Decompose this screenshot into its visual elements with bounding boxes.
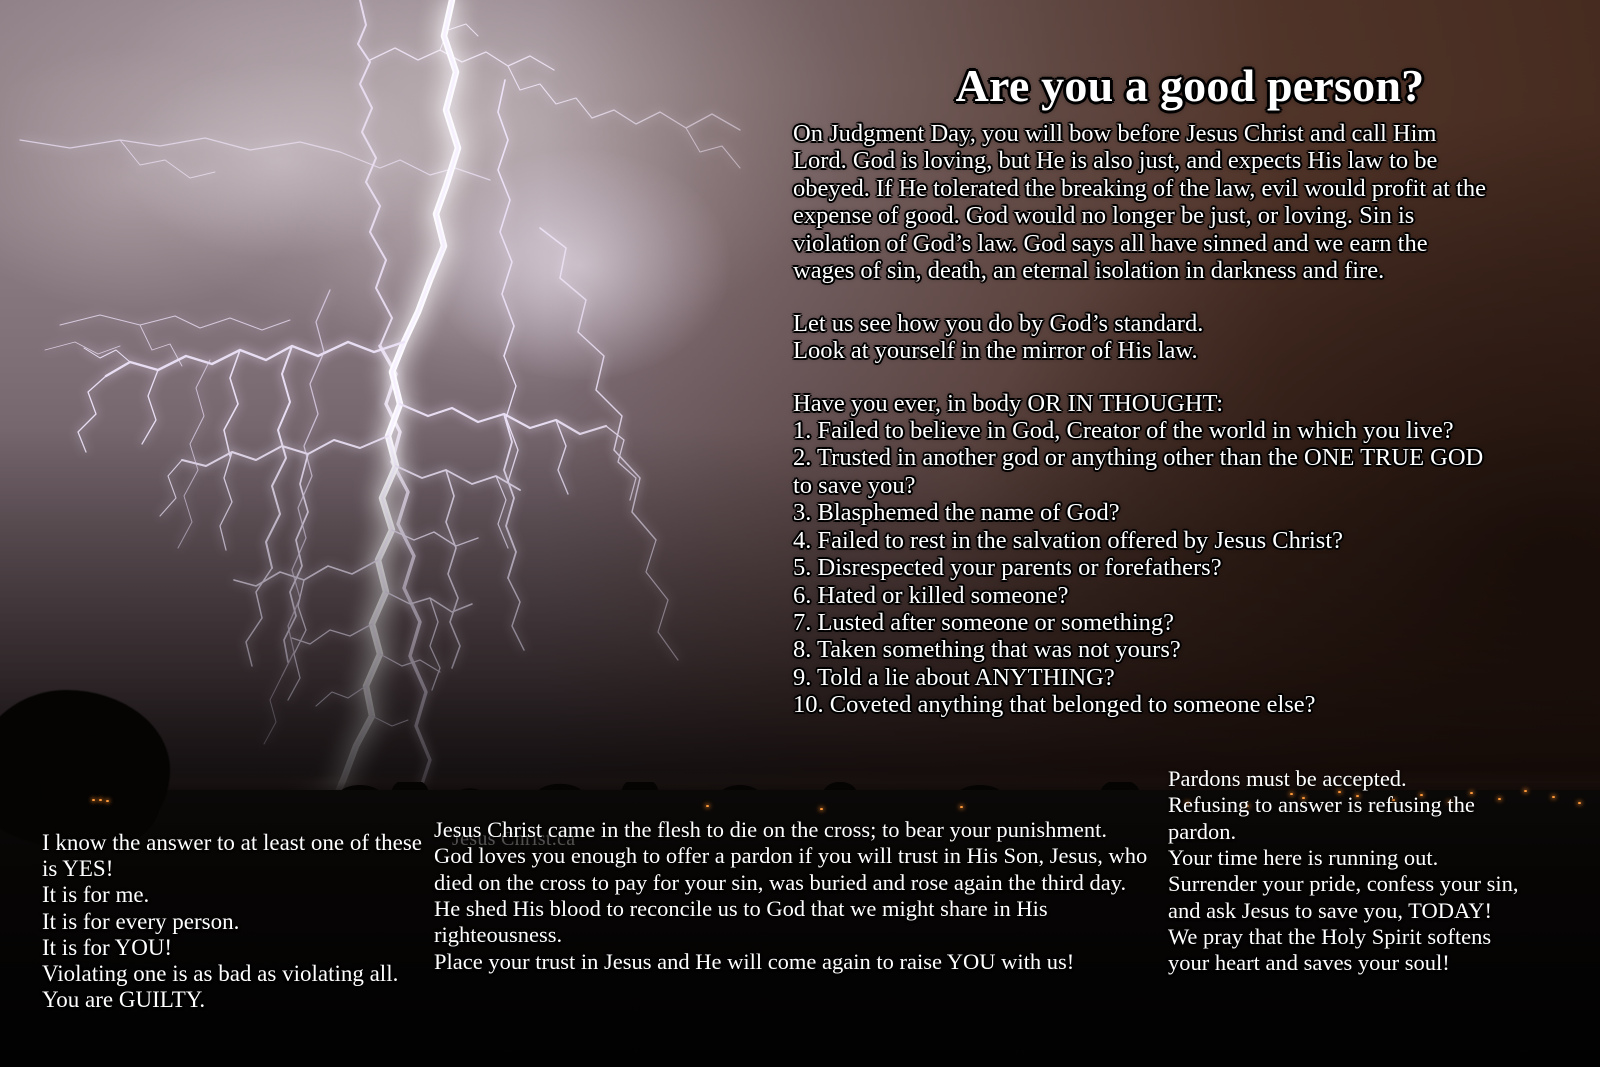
guilt-line: It is for YOU! — [42, 935, 432, 961]
gospel-line: God loves you enough to offer a pardon i… — [434, 843, 1152, 948]
gospel-line: Place your trust in Jesus and He will co… — [434, 949, 1152, 975]
question-item: 9. Told a lie about ANYTHING? — [793, 664, 1493, 691]
gospel-line: Jesus Christ came in the flesh to die on… — [434, 817, 1152, 843]
spacer — [793, 285, 1493, 310]
question-item: 7. Lusted after someone or something? — [793, 609, 1493, 636]
guilt-text-block: I know the answer to at least one of the… — [42, 830, 432, 1014]
page-title: Are you a good person? — [820, 59, 1560, 112]
tree-silhouette-left-lower — [40, 735, 160, 845]
question-item: 2. Trusted in another god or anything ot… — [793, 444, 1493, 499]
guilt-line: I know the answer to at least one of the… — [42, 830, 432, 882]
pardon-text-block: Pardons must be accepted. Refusing to an… — [1168, 766, 1528, 977]
pardon-line: Refusing to answer is refusing the pardo… — [1168, 792, 1528, 845]
pardon-line: Pardons must be accepted. — [1168, 766, 1528, 792]
main-paragraph-1: On Judgment Day, you will bow before Jes… — [793, 120, 1493, 285]
guilt-line: It is for me. — [42, 882, 432, 908]
guilt-line: Violating one is as bad as violating all… — [42, 961, 432, 987]
question-item: 6. Hated or killed someone? — [793, 582, 1493, 609]
question-item: 3. Blasphemed the name of God? — [793, 499, 1493, 526]
spacer — [793, 365, 1493, 390]
question-item: 8. Taken something that was not yours? — [793, 636, 1493, 663]
standard-line-1: Let us see how you do by God’s standard. — [793, 310, 1493, 337]
poster-canvas: Jesus Christ.ca Are you a good person? O… — [0, 0, 1600, 1067]
guilt-line: It is for every person. — [42, 909, 432, 935]
question-item: 5. Disrespected your parents or forefath… — [793, 554, 1493, 581]
guilt-line: You are GUILTY. — [42, 987, 432, 1013]
pardon-line: Surrender your pride, confess your sin, … — [1168, 871, 1528, 924]
pardon-line: We pray that the Holy Spirit softens you… — [1168, 924, 1528, 977]
main-text-column: On Judgment Day, you will bow before Jes… — [793, 120, 1493, 719]
standard-line-2: Look at yourself in the mirror of His la… — [793, 337, 1493, 364]
question-item: 4. Failed to rest in the salvation offer… — [793, 527, 1493, 554]
question-item: 10. Coveted anything that belonged to so… — [793, 691, 1493, 718]
questions-heading: Have you ever, in body OR IN THOUGHT: — [793, 390, 1493, 417]
question-item: 1. Failed to believe in God, Creator of … — [793, 417, 1493, 444]
pardon-line: Your time here is running out. — [1168, 845, 1528, 871]
gospel-text-block: Jesus Christ came in the flesh to die on… — [434, 817, 1152, 975]
